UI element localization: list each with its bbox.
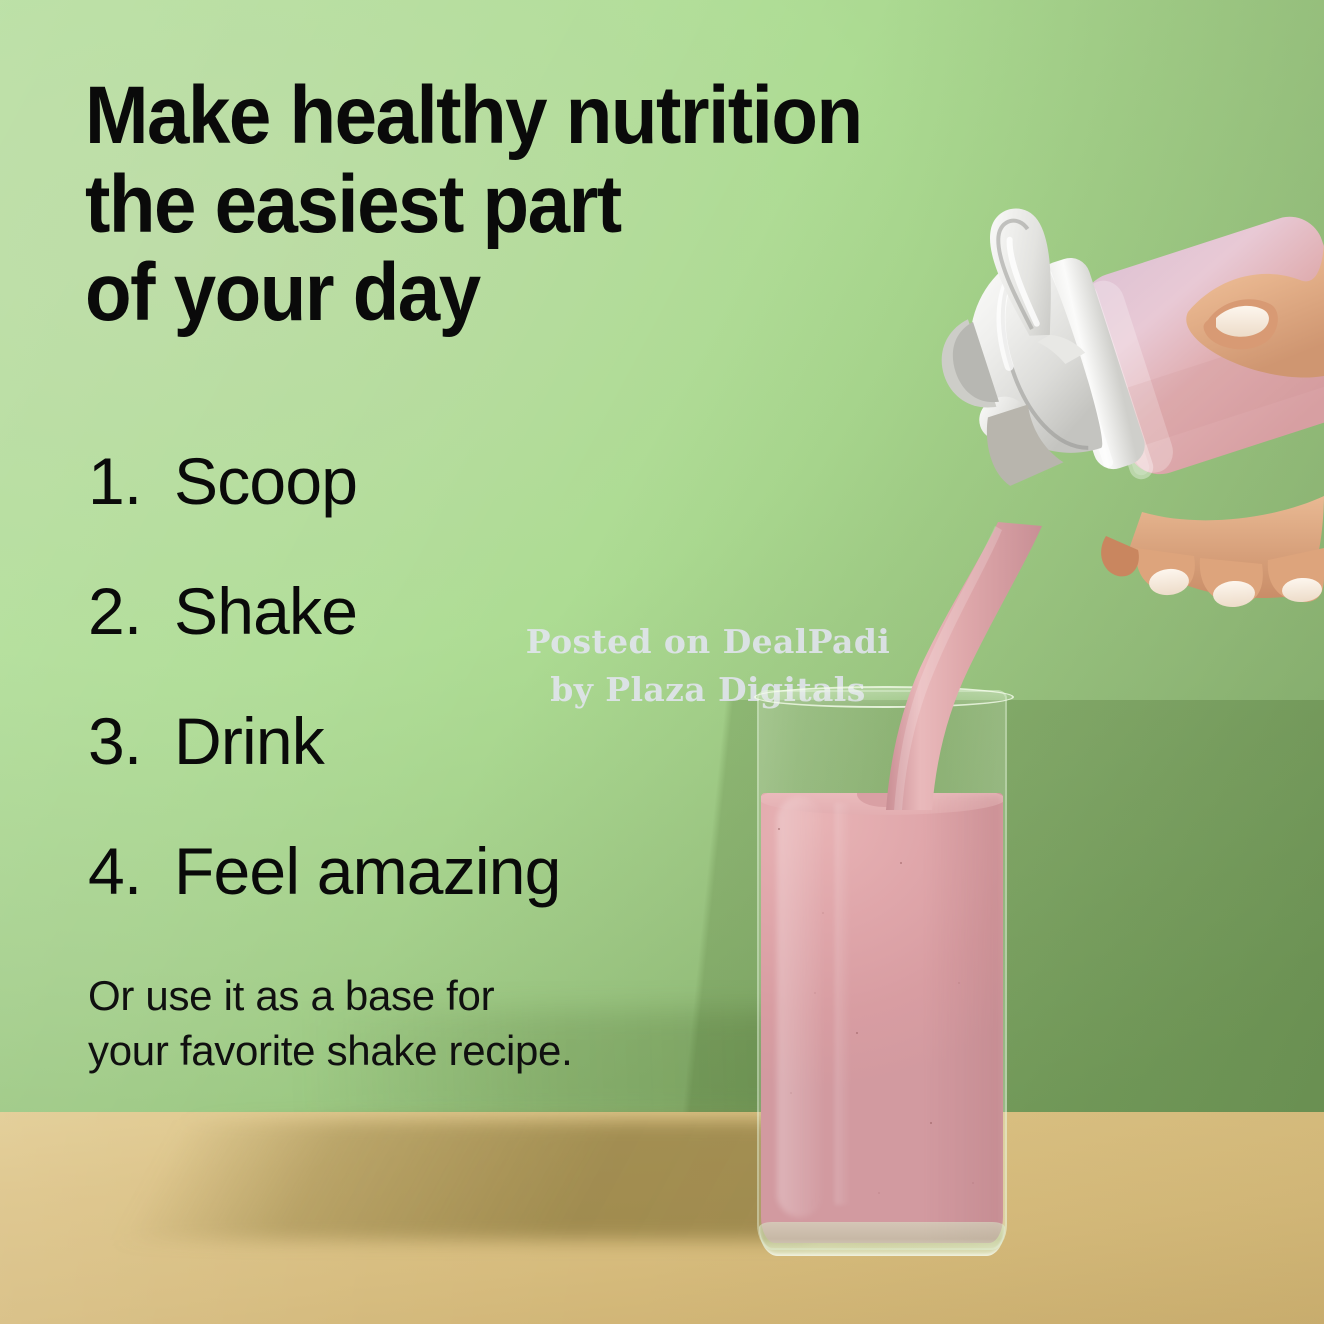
- step-label: Shake: [174, 578, 357, 644]
- smoothie-speckles: [761, 793, 1003, 1243]
- list-item: 1. Scoop: [88, 448, 561, 578]
- table-surface: [0, 1112, 1324, 1324]
- steps-list: 1. Scoop 2. Shake 3. Drink 4. Feel amazi…: [88, 448, 561, 968]
- table-sheen: [0, 1112, 1324, 1324]
- hand-fingers-group: [1101, 496, 1324, 608]
- list-item: 4. Feel amazing: [88, 838, 561, 968]
- step-number: 3.: [88, 708, 174, 774]
- list-item: 3. Drink: [88, 708, 561, 838]
- step-label: Scoop: [174, 448, 357, 514]
- shaker-bottle-and-hand: A ®: [920, 200, 1324, 700]
- glass-base: [759, 1222, 1005, 1256]
- step-number: 4.: [88, 838, 174, 904]
- list-item: 2. Shake: [88, 578, 561, 708]
- footnote-text: Or use it as a base for your favorite sh…: [88, 968, 572, 1079]
- step-label: Drink: [174, 708, 324, 774]
- promo-canvas: Make healthy nutrition the easiest part …: [0, 0, 1324, 1324]
- step-label: Feel amazing: [174, 838, 561, 904]
- smoothie-fill: [761, 793, 1003, 1243]
- step-number: 2.: [88, 578, 174, 644]
- step-number: 1.: [88, 448, 174, 514]
